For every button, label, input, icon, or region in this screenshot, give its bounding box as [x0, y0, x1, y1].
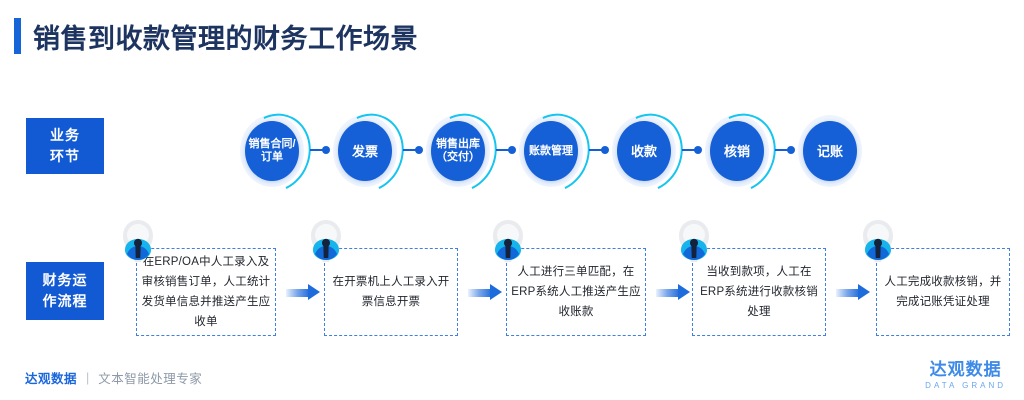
stage-writeoff-connector [775, 149, 791, 151]
flow-step-receipt-writeoff-box: 当收到款项，人工在ERP系统进行收款核销处理 [692, 248, 826, 336]
page-title: 销售到收款管理的财务工作场景 [33, 17, 418, 56]
arrow-shaft [286, 289, 310, 297]
stage-collection-disc: 收款 [617, 121, 671, 181]
stage-bookkeeping[interactable]: 记账 [790, 105, 870, 197]
stage-sales-contract[interactable]: 销售合同/订单 [232, 105, 312, 197]
title-accent-bar [14, 18, 21, 54]
flow-step-voucher[interactable]: 人工完成收款核销，并完成记账凭证处理 [876, 228, 1010, 340]
flow-step-receipt-writeoff[interactable]: 当收到款项，人工在ERP系统进行收款核销处理 [692, 228, 826, 340]
flow-step-three-way-match-arrow-right-icon [656, 284, 690, 300]
stage-receivable-connector [589, 149, 605, 151]
stage-collection-connector [682, 149, 698, 151]
arrow-shaft [656, 289, 680, 297]
arrow-head [308, 284, 320, 300]
stage-writeoff-label: 核销 [713, 144, 761, 159]
flow-step-receipt-writeoff-arrow-right-icon [836, 284, 870, 300]
arrow-shaft [836, 289, 860, 297]
arrow-head [490, 284, 502, 300]
stage-sales-contract-label: 销售合同/订单 [248, 138, 296, 164]
stage-outbound-disc: 销售出库（交付） [431, 121, 485, 181]
stage-receivable-label: 账款管理 [527, 145, 575, 158]
page-header: 销售到收款管理的财务工作场景 [14, 16, 418, 56]
flow-step-three-way-match-text: 人工进行三单匹配，在ERP系统人工推送产生应收账款 [511, 262, 641, 322]
stage-writeoff[interactable]: 核销 [697, 105, 777, 197]
stage-receivable-disc: 账款管理 [524, 121, 578, 181]
stage-bookkeeping-label: 记账 [806, 144, 854, 159]
flow-step-order-entry[interactable]: 在ERP/OA中人工录入及审核销售订单，人工统计发货单信息并推送产生应收单 [136, 228, 276, 340]
stage-invoice-connector [403, 149, 419, 151]
stage-invoice-disc: 发票 [338, 121, 392, 181]
footer-logo-cn: 达观数据 [925, 360, 1006, 379]
arrow-head [678, 284, 690, 300]
stage-invoice[interactable]: 发票 [325, 105, 405, 197]
footer-brand: 达观数据 [25, 368, 77, 387]
footer-separator: | [86, 371, 89, 385]
arrow-shaft [468, 289, 492, 297]
stage-collection-label: 收款 [620, 144, 668, 159]
stage-outbound-connector [496, 149, 512, 151]
flow-step-invoicing-box: 在开票机上人工录入开票信息开票 [324, 248, 458, 336]
stage-sales-contract-disc: 销售合同/订单 [245, 121, 299, 181]
flow-step-voucher-text: 人工完成收款核销，并完成记账凭证处理 [881, 272, 1005, 312]
footer-left: 达观数据 | 文本智能处理专家 [25, 368, 202, 387]
stage-collection[interactable]: 收款 [604, 105, 684, 197]
flow-step-order-entry-box: 在ERP/OA中人工录入及审核销售订单，人工统计发货单信息并推送产生应收单 [136, 248, 276, 336]
flow-step-invoicing-text: 在开票机上人工录入开票信息开票 [329, 272, 453, 312]
flow-step-invoicing-arrow-right-icon [468, 284, 502, 300]
flow-step-invoicing[interactable]: 在开票机上人工录入开票信息开票 [324, 228, 458, 340]
stage-sales-contract-connector [310, 149, 326, 151]
stage-receivable[interactable]: 账款管理 [511, 105, 591, 197]
flow-step-three-way-match[interactable]: 人工进行三单匹配，在ERP系统人工推送产生应收账款 [506, 228, 646, 340]
flow-step-receipt-writeoff-text: 当收到款项，人工在ERP系统进行收款核销处理 [697, 262, 821, 322]
stage-outbound[interactable]: 销售出库（交付） [418, 105, 498, 197]
stage-invoice-label: 发票 [341, 144, 389, 159]
footer-tagline: 文本智能处理专家 [98, 368, 202, 387]
stage-writeoff-disc: 核销 [710, 121, 764, 181]
flow-step-voucher-box: 人工完成收款核销，并完成记账凭证处理 [876, 248, 1010, 336]
footer-logo: 达观数据 DATA GRAND [925, 360, 1006, 392]
stage-bookkeeping-disc: 记账 [803, 121, 857, 181]
footer-logo-en: DATA GRAND [925, 380, 1006, 392]
arrow-head [858, 284, 870, 300]
process-stage-row: 销售合同/订单发票销售出库（交付）账款管理收款核销记账 [0, 105, 1024, 197]
flow-step-order-entry-arrow-right-icon [286, 284, 320, 300]
flow-step-three-way-match-box: 人工进行三单匹配，在ERP系统人工推送产生应收账款 [506, 248, 646, 336]
stage-outbound-label: 销售出库（交付） [434, 138, 482, 164]
finance-flow-row: 在ERP/OA中人工录入及审核销售订单，人工统计发货单信息并推送产生应收单在开票… [0, 228, 1024, 340]
flow-step-order-entry-text: 在ERP/OA中人工录入及审核销售订单，人工统计发货单信息并推送产生应收单 [141, 252, 271, 332]
